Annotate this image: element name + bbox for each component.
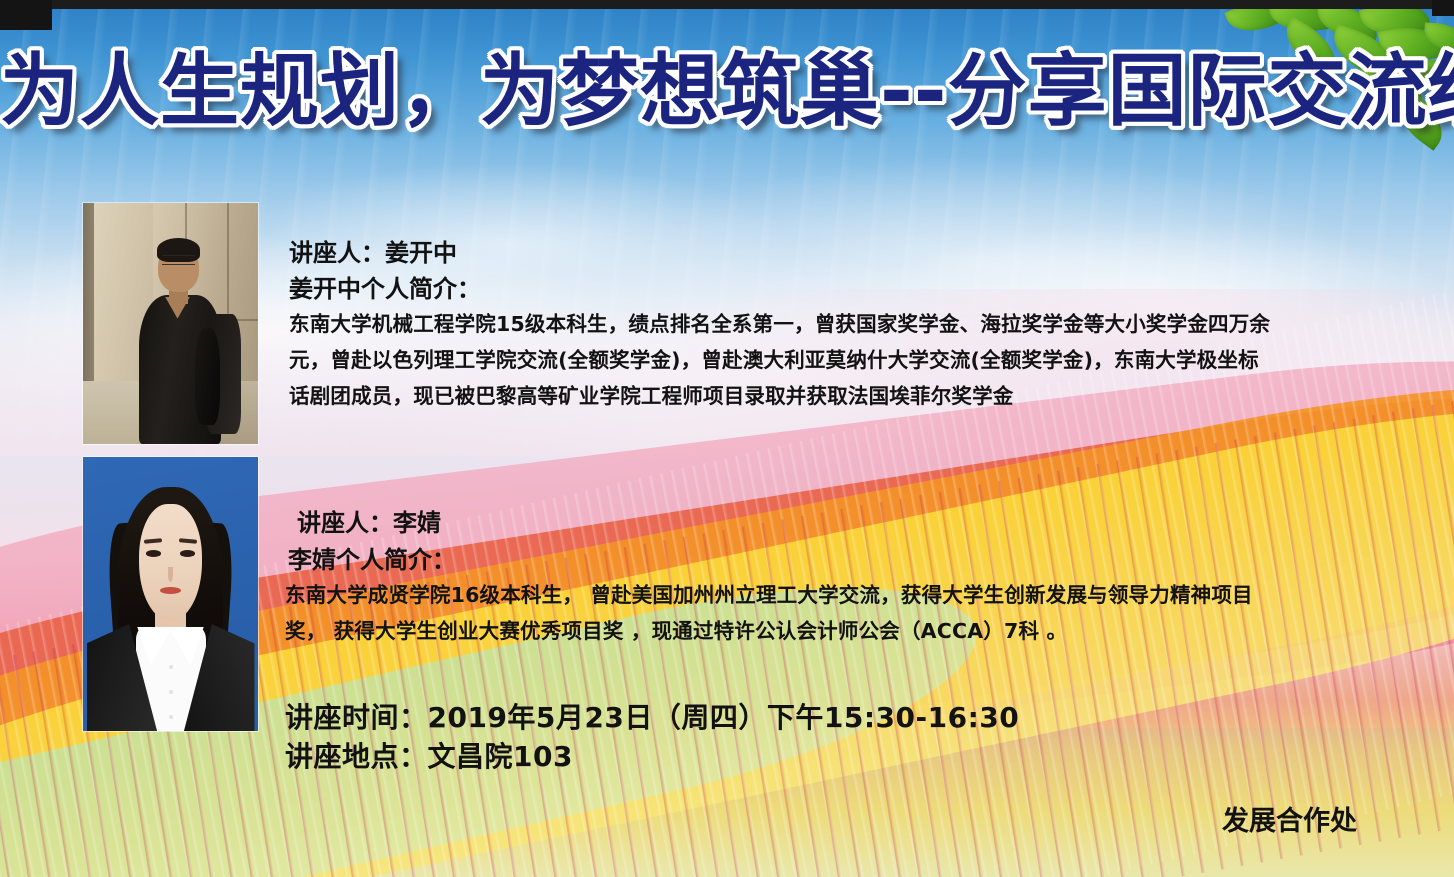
speaker-2-bio-line: 东南大学成贤学院16级本科生， 曾赴美国加州州立理工大学交流，获得大学生创新发展… [285, 578, 1253, 608]
event-place: 讲座地点：文昌院103 [285, 735, 573, 775]
speaker-photo-jiangkaizhong [83, 203, 258, 444]
glasses-icon [162, 255, 195, 265]
poster-title-container: 为人生规划，为梦想筑巢--分享国际交流经历 [0, 52, 1454, 131]
speaker-2-bio-heading: 李婧个人简介： [288, 540, 456, 575]
id-photo-eye-right [180, 550, 195, 557]
speaker-1-bio-line: 元，曾赴以色列理工学院交流(全额奖学金)，曾赴澳大利亚莫纳什大学交流(全额奖学金… [289, 343, 1259, 373]
top-left-dark-corner [0, 0, 52, 30]
poster-canvas: 为人生规划，为梦想筑巢--分享国际交流经历 [0, 0, 1454, 877]
id-photo-button [169, 665, 173, 669]
top-border-strip [0, 0, 1454, 9]
poster-title: 为人生规划，为梦想筑巢--分享国际交流经历 [0, 52, 1454, 131]
speaker-photo-lijing [83, 457, 258, 731]
id-photo-button [169, 715, 173, 719]
id-photo-nose [168, 567, 173, 582]
speaker-1-bio-heading: 姜开中个人简介： [289, 269, 481, 304]
photo-arm [195, 328, 220, 424]
id-photo-button [169, 690, 173, 694]
speaker-1-bio-line: 东南大学机械工程学院15级本科生，绩点排名全系第一，曾获国家奖学金、海拉奖学金等… [289, 307, 1270, 337]
speaker-1-bio-line: 话剧团成员，现已被巴黎高等矿业学院工程师项目录取并获取法国埃菲尔奖学金 [289, 379, 1014, 409]
id-photo-eye-left [146, 550, 161, 557]
speaker-2-bio-line: 奖， 获得大学生创业大赛优秀项目奖 ，现通过特许公认会计师公会（ACCA）7科 … [285, 614, 1067, 644]
event-time: 讲座时间：2019年5月23日（周四）下午15:30-16:30 [285, 696, 1019, 736]
speaker-2-name: 讲座人：李婧 [297, 503, 441, 538]
speaker-1-name: 讲座人：姜开中 [289, 233, 457, 268]
id-photo-face [139, 504, 202, 622]
top-right-dark-corner [1432, 0, 1454, 16]
organizer-name: 发展合作处 [1222, 799, 1357, 838]
